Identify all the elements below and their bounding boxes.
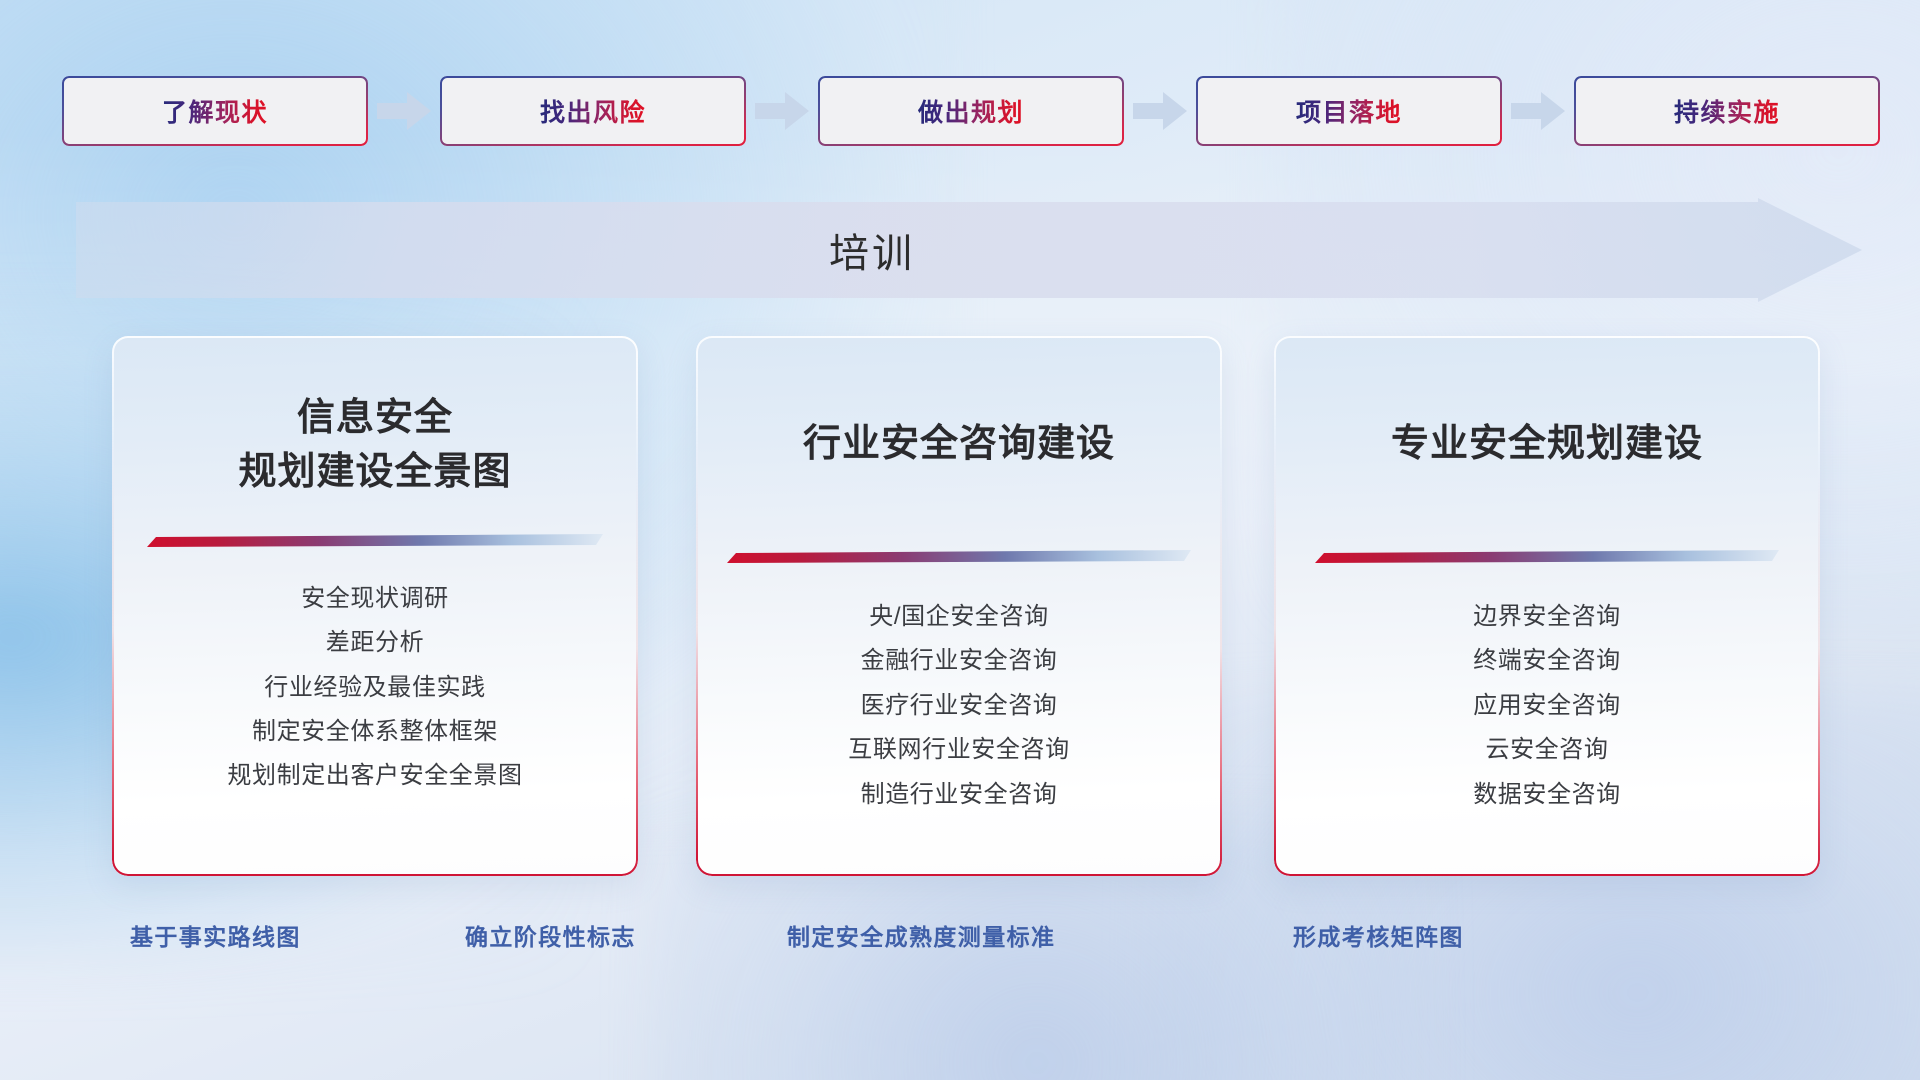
list-item: 规划制定出客户安全全景图 xyxy=(227,760,522,792)
footer-label-row: 基于事实路线图 确立阶段性标志 制定安全成熟度测量标准 形成考核矩阵图 xyxy=(0,918,1920,964)
training-banner-label: 培训 xyxy=(0,198,1744,302)
step-box-1[interactable]: 了解现状 xyxy=(62,76,368,146)
card-divider-icon xyxy=(1315,550,1779,565)
list-item: 金融行业安全咨询 xyxy=(861,645,1058,677)
list-item: 安全现状调研 xyxy=(301,583,449,615)
list-item: 边界安全咨询 xyxy=(1473,601,1621,633)
card-list: 安全现状调研 差距分析 行业经验及最佳实践 制定安全体系整体框架 规划制定出客户… xyxy=(227,583,522,793)
step-label: 持续实施 xyxy=(1674,93,1780,129)
arrow-right-icon xyxy=(746,92,818,130)
card-title-line: 专业安全规划建设 xyxy=(1391,418,1703,472)
card-title-line: 行业安全咨询建设 xyxy=(803,418,1115,472)
arrow-right-icon xyxy=(1502,92,1574,130)
list-item: 制定安全体系整体框架 xyxy=(252,716,498,748)
card-divider-icon xyxy=(147,534,603,549)
cards-row: 信息安全 规划建设全景图 xyxy=(0,336,1920,876)
step-label: 找出风险 xyxy=(540,93,646,129)
training-banner: 培训 xyxy=(0,198,1862,302)
step-box-3[interactable]: 做出规划 xyxy=(818,76,1124,146)
card-title-line: 规划建设全景图 xyxy=(238,446,511,500)
list-item: 数据安全咨询 xyxy=(1473,779,1621,811)
footer-label: 形成考核矩阵图 xyxy=(1293,918,1464,952)
list-item: 制造行业安全咨询 xyxy=(861,779,1058,811)
card-title: 专业安全规划建设 xyxy=(1391,418,1703,472)
list-item: 终端安全咨询 xyxy=(1473,645,1621,677)
card-title: 信息安全 规划建设全景图 xyxy=(238,392,511,500)
list-item: 行业经验及最佳实践 xyxy=(264,672,485,704)
card-industry-security-consulting[interactable]: 行业安全咨询建设 xyxy=(696,336,1222,876)
step-box-5[interactable]: 持续实施 xyxy=(1574,76,1880,146)
process-step-row: 了解现状 找出风险 做出规划 项目落地 持续实施 xyxy=(62,76,1862,146)
card-professional-security-planning[interactable]: 专业安全规划建设 xyxy=(1274,336,1820,876)
list-item: 央/国企安全咨询 xyxy=(869,601,1048,633)
card-list: 边界安全咨询 终端安全咨询 应用安全咨询 云安全咨询 数据安全咨询 xyxy=(1473,601,1621,811)
step-box-2[interactable]: 找出风险 xyxy=(440,76,746,146)
list-item: 应用安全咨询 xyxy=(1473,690,1621,722)
list-item: 差距分析 xyxy=(326,627,424,659)
step-box-4[interactable]: 项目落地 xyxy=(1196,76,1502,146)
step-label: 项目落地 xyxy=(1296,93,1402,129)
list-item: 互联网行业安全咨询 xyxy=(848,734,1069,766)
arrow-right-icon xyxy=(368,92,440,130)
list-item: 云安全咨询 xyxy=(1485,734,1608,766)
footer-label: 制定安全成熟度测量标准 xyxy=(787,918,1055,952)
card-list: 央/国企安全咨询 金融行业安全咨询 医疗行业安全咨询 互联网行业安全咨询 制造行… xyxy=(848,601,1069,811)
step-label: 了解现状 xyxy=(162,93,268,129)
list-item: 医疗行业安全咨询 xyxy=(861,690,1058,722)
footer-label: 基于事实路线图 xyxy=(130,918,301,952)
card-divider-icon xyxy=(727,550,1191,565)
card-title: 行业安全咨询建设 xyxy=(803,418,1115,472)
card-title-line: 信息安全 xyxy=(238,392,511,446)
card-information-security-blueprint[interactable]: 信息安全 规划建设全景图 xyxy=(112,336,638,876)
arrow-right-icon xyxy=(1124,92,1196,130)
footer-label: 确立阶段性标志 xyxy=(465,918,636,952)
step-label: 做出规划 xyxy=(918,93,1024,129)
